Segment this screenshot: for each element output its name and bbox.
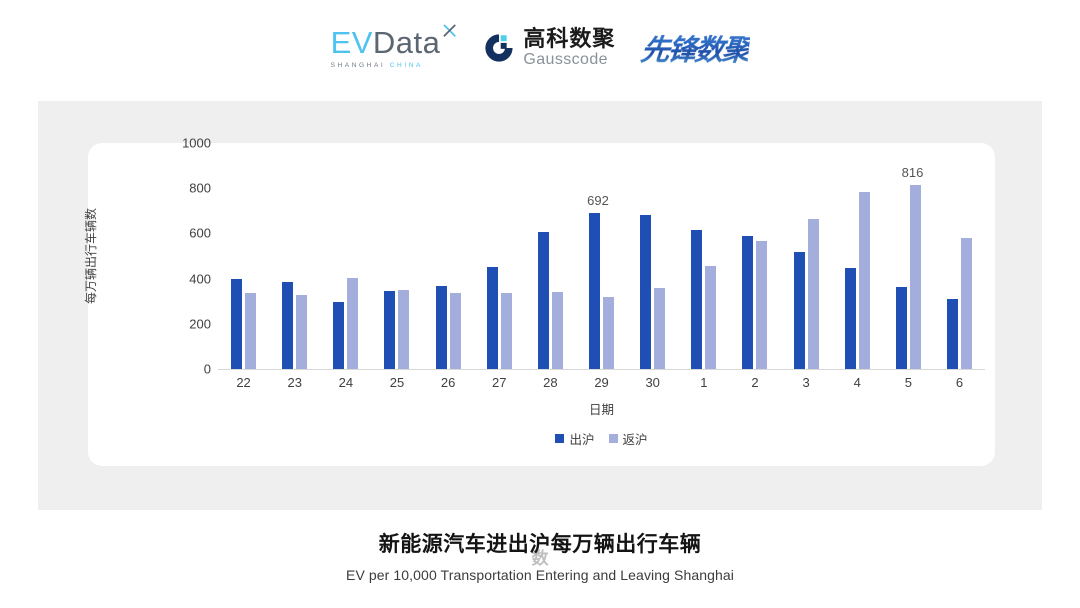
gausscode-logo: 高科数聚 Gausscode xyxy=(482,28,615,68)
y-axis-title: 每万辆出行车辆数 xyxy=(82,176,99,336)
chart-legend: 出沪返沪 xyxy=(218,429,985,448)
bar-back-3[interactable] xyxy=(808,219,819,369)
x-axis-tick-label: 27 xyxy=(474,375,525,390)
x-axis-title: 日期 xyxy=(218,399,985,418)
bar-group xyxy=(781,143,832,369)
y-axis-tick-label: 200 xyxy=(167,316,211,331)
x-axis-tick-label: 29 xyxy=(576,375,627,390)
bar-back-22[interactable] xyxy=(245,293,256,369)
x-axis-tick-label: 26 xyxy=(423,375,474,390)
y-axis-tick-label: 0 xyxy=(167,362,211,377)
bar-group xyxy=(678,143,729,369)
x-axis-tick-label: 2 xyxy=(729,375,780,390)
bar-back-24[interactable] xyxy=(347,278,358,369)
evdata-wordmark: EVData xyxy=(331,27,457,58)
evdata-tagline: SHANGHAI CHINA xyxy=(331,63,423,70)
bar-out-30[interactable] xyxy=(640,215,651,369)
x-axis-tick-label: 25 xyxy=(371,375,422,390)
bar-value-label: 816 xyxy=(902,165,924,180)
evdata-logo: EVData SHANGHAI CHINA xyxy=(331,27,457,70)
xianfeng-shuju-logo: 先锋数聚 xyxy=(639,27,751,69)
x-axis-tick-label: 28 xyxy=(525,375,576,390)
bar-group xyxy=(320,143,371,369)
legend-label: 出沪 xyxy=(569,429,594,448)
chart-card: 每万辆出行车辆数 10008006004002000 692816 222324… xyxy=(88,143,995,466)
legend-label: 返沪 xyxy=(623,429,648,448)
x-axis-tick-label: 24 xyxy=(320,375,371,390)
bar-back-1[interactable] xyxy=(705,266,716,369)
bar-back-28[interactable] xyxy=(552,292,563,369)
bar-out-27[interactable] xyxy=(487,267,498,369)
x-axis-tick-label: 4 xyxy=(832,375,883,390)
bar-value-label: 692 xyxy=(587,193,609,208)
y-axis-tick-label: 800 xyxy=(167,181,211,196)
bar-out-22[interactable] xyxy=(231,279,242,369)
bar-back-25[interactable] xyxy=(398,290,409,369)
y-axis-tick-label: 600 xyxy=(167,226,211,241)
bar-back-5[interactable] xyxy=(910,185,921,369)
bar-group xyxy=(627,143,678,369)
bar-groups: 692816 xyxy=(218,143,985,369)
bar-out-5[interactable] xyxy=(896,287,907,369)
bar-out-2[interactable] xyxy=(742,236,753,369)
y-axis-tick-label: 1000 xyxy=(167,136,211,151)
gausscode-mark-icon xyxy=(482,31,516,65)
legend-item-back[interactable]: 返沪 xyxy=(609,429,648,448)
legend-swatch-icon xyxy=(555,434,564,443)
bar-out-23[interactable] xyxy=(282,282,293,369)
bar-group xyxy=(729,143,780,369)
x-axis-tick-label: 5 xyxy=(883,375,934,390)
bar-group xyxy=(474,143,525,369)
x-axis-tick-label: 3 xyxy=(781,375,832,390)
x-axis-tick-label: 1 xyxy=(678,375,729,390)
bar-chart: 每万辆出行车辆数 10008006004002000 692816 222324… xyxy=(88,143,995,466)
bar-back-29[interactable] xyxy=(603,297,614,369)
bar-group: 816 xyxy=(883,143,934,369)
bar-out-29[interactable] xyxy=(589,213,600,369)
bar-back-30[interactable] xyxy=(654,288,665,369)
evdata-ev-text: EV xyxy=(331,25,373,60)
x-axis-tick-label: 23 xyxy=(269,375,320,390)
legend-swatch-icon xyxy=(609,434,618,443)
sparkle-icon xyxy=(442,23,458,39)
bar-out-1[interactable] xyxy=(691,230,702,369)
x-axis-tick-label: 30 xyxy=(627,375,678,390)
bar-group: 692 xyxy=(576,143,627,369)
bar-group xyxy=(269,143,320,369)
bar-out-26[interactable] xyxy=(436,286,447,369)
bar-group xyxy=(832,143,883,369)
bar-back-23[interactable] xyxy=(296,295,307,369)
page-subtitle: EV per 10,000 Transportation Entering an… xyxy=(0,567,1080,583)
bar-out-25[interactable] xyxy=(384,291,395,369)
bar-out-4[interactable] xyxy=(845,268,856,369)
bar-back-2[interactable] xyxy=(756,241,767,369)
bar-out-24[interactable] xyxy=(333,302,344,369)
gausscode-cn-name: 高科数聚 xyxy=(523,28,615,50)
evdata-tagline-city: SHANGHAI xyxy=(331,62,386,69)
evdata-tagline-country: CHINA xyxy=(390,62,423,69)
bar-group xyxy=(934,143,985,369)
bar-out-3[interactable] xyxy=(794,252,805,369)
bar-back-6[interactable] xyxy=(961,238,972,369)
bar-group xyxy=(218,143,269,369)
x-axis-ticks: 222324252627282930123456 xyxy=(218,375,985,390)
bar-back-26[interactable] xyxy=(450,293,461,369)
bar-group xyxy=(371,143,422,369)
logo-bar: EVData SHANGHAI CHINA 高科数聚 Gausscode 先锋数… xyxy=(0,0,1080,96)
footer: 新能源汽车进出沪每万辆出行车辆 数 EV per 10,000 Transpor… xyxy=(0,528,1080,583)
bar-back-4[interactable] xyxy=(859,192,870,369)
y-axis-ticks: 10008006004002000 xyxy=(163,143,211,466)
bar-out-6[interactable] xyxy=(947,299,958,369)
page-title: 新能源汽车进出沪每万辆出行车辆 xyxy=(0,528,1080,558)
x-axis-tick-label: 6 xyxy=(934,375,985,390)
bar-group xyxy=(423,143,474,369)
bar-group xyxy=(525,143,576,369)
x-axis-tick-label: 22 xyxy=(218,375,269,390)
evdata-data-text: Data xyxy=(373,25,440,60)
bar-back-27[interactable] xyxy=(501,293,512,369)
gausscode-en-name: Gausscode xyxy=(523,52,615,68)
y-axis-tick-label: 400 xyxy=(167,271,211,286)
x-axis-line xyxy=(218,369,985,370)
legend-item-out[interactable]: 出沪 xyxy=(555,429,594,448)
bar-out-28[interactable] xyxy=(538,232,549,369)
